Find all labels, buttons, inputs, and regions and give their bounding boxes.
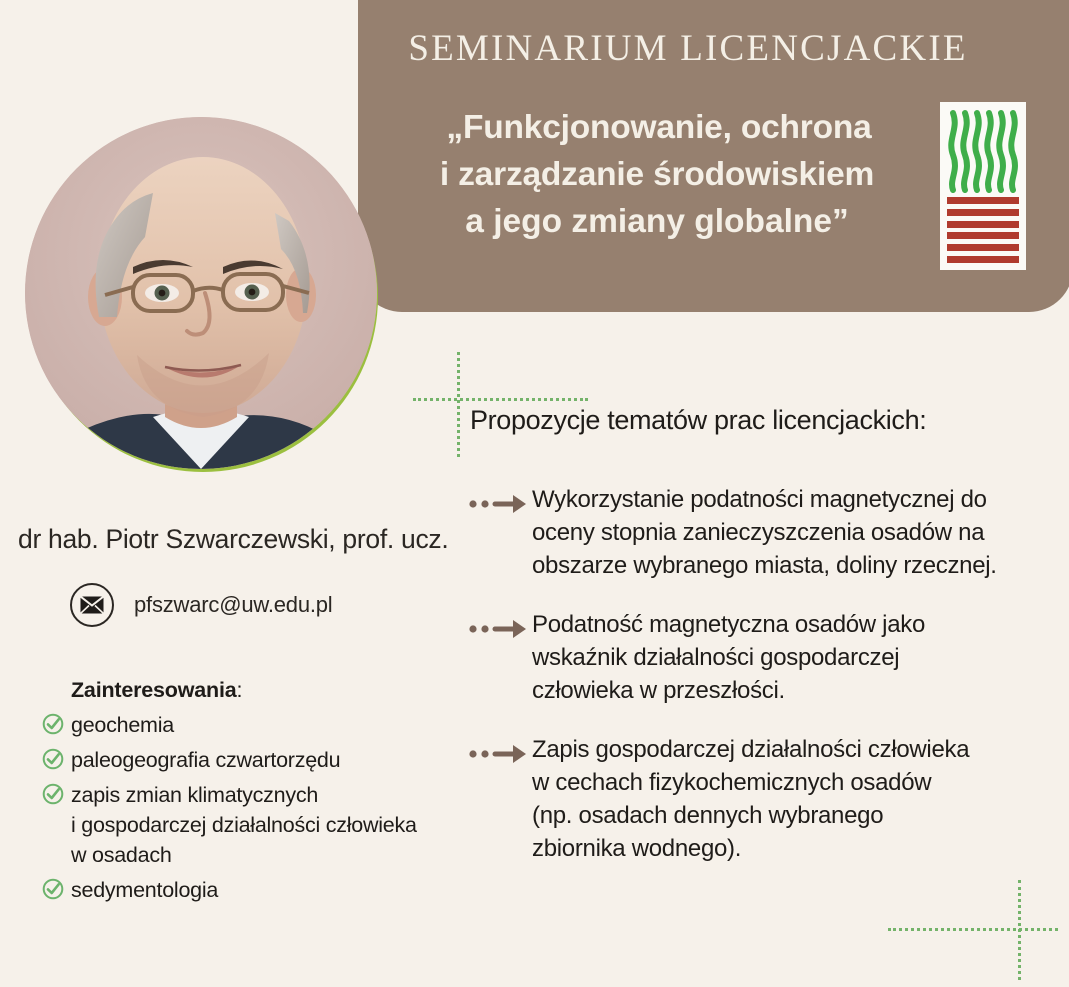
subtitle-line-3: a jego zmiany globalne”	[372, 198, 942, 245]
portrait-illustration	[25, 117, 377, 469]
cross-vertical-line	[457, 352, 460, 457]
list-item: paleogeografia czwartorzędu	[42, 745, 442, 775]
logo-waves-icon	[947, 109, 1019, 194]
logo-bar	[947, 232, 1019, 239]
topic-line-3: człowieka w przeszłości.	[532, 674, 925, 707]
logo-bar	[947, 221, 1019, 228]
dotted-arrow-icon	[468, 616, 532, 642]
logo-bar	[947, 197, 1019, 204]
interests-section: Zainteresowania: geochemia paleogeografi…	[42, 678, 442, 910]
topic-line-3: (np. osadach dennych wybranego	[532, 799, 969, 832]
list-item: zapis zmian klimatycznych i gospodarczej…	[42, 780, 442, 870]
list-item: sedymentologia	[42, 875, 442, 905]
subtitle-line-1: „Funkcjonowanie, ochrona	[372, 104, 942, 151]
topic-line-2: w cechach fizykochemicznych osadów	[532, 766, 969, 799]
dotted-arrow-icon	[468, 741, 532, 767]
interests-heading: Zainteresowania:	[71, 678, 442, 703]
interests-heading-label: Zainteresowania	[71, 678, 236, 702]
topic-line-1: Wykorzystanie podatności magnetycznej do	[532, 483, 997, 516]
logo-bar	[947, 256, 1019, 263]
logo-bar	[947, 244, 1019, 251]
cross-horizontal-line	[413, 398, 588, 401]
envelope-glyph	[80, 596, 104, 614]
list-item: Zapis gospodarczej działalności człowiek…	[468, 733, 1028, 865]
interest-line-1: sedymentologia	[71, 878, 218, 902]
interests-heading-colon: :	[236, 678, 242, 702]
topics-list: Wykorzystanie podatności magnetycznej do…	[468, 483, 1028, 891]
check-circle-icon	[42, 878, 64, 900]
interest-line-2: i gospodarczej działalności człowieka	[71, 810, 417, 840]
topics-heading: Propozycje tematów prac licencjackich:	[470, 405, 926, 436]
dotted-cross-bottom	[888, 880, 1058, 980]
topic-line-1: Zapis gospodarczej działalności człowiek…	[532, 733, 969, 766]
check-circle-icon	[42, 783, 64, 805]
interest-line-1: zapis zmian klimatycznych	[71, 783, 318, 807]
topic-line-4: zbiornika wodnego).	[532, 832, 969, 865]
portrait-photo	[25, 117, 377, 469]
interest-text: zapis zmian klimatycznych i gospodarczej…	[71, 780, 417, 870]
interest-line-1: geochemia	[71, 713, 174, 737]
poster-canvas: SEMINARIUM LICENCJACKIE „Funkcjonowanie,…	[0, 0, 1069, 987]
logo-bar	[947, 209, 1019, 216]
cross-horizontal-line	[888, 928, 1058, 931]
email-address[interactable]: pfszwarc@uw.edu.pl	[134, 592, 333, 618]
topic-line-2: oceny stopnia zanieczyszczenia osadów na	[532, 516, 997, 549]
email-row[interactable]: pfszwarc@uw.edu.pl	[70, 583, 333, 627]
check-circle-icon	[42, 713, 64, 735]
uw-geography-logo	[940, 102, 1026, 270]
list-item: Podatność magnetyczna osadów jako wskaźn…	[468, 608, 1028, 707]
interest-line-3: w osadach	[71, 840, 417, 870]
seminar-subtitle: „Funkcjonowanie, ochrona i zarządzanie ś…	[372, 104, 942, 245]
interest-text: geochemia	[71, 710, 174, 740]
interest-line-1: paleogeografia czwartorzędu	[71, 748, 340, 772]
list-item: geochemia	[42, 710, 442, 740]
topic-text: Zapis gospodarczej działalności człowiek…	[532, 733, 969, 865]
topic-text: Podatność magnetyczna osadów jako wskaźn…	[532, 608, 925, 707]
check-circle-icon	[42, 748, 64, 770]
page-title: SEMINARIUM LICENCJACKIE	[358, 27, 1018, 70]
person-name: dr hab. Piotr Szwarczewski, prof. ucz.	[18, 524, 448, 555]
list-item: Wykorzystanie podatności magnetycznej do…	[468, 483, 1028, 582]
topic-line-2: wskaźnik działalności gospodarczej	[532, 641, 925, 674]
topic-line-1: Podatność magnetyczna osadów jako	[532, 608, 925, 641]
envelope-icon	[70, 583, 114, 627]
dotted-arrow-icon	[468, 491, 532, 517]
logo-bars-icon	[947, 197, 1019, 263]
topic-line-3: obszarze wybranego miasta, doliny rzeczn…	[532, 549, 997, 582]
interest-text: paleogeografia czwartorzędu	[71, 745, 340, 775]
subtitle-line-2: i zarządzanie środowiskiem	[372, 151, 942, 198]
cross-vertical-line	[1018, 880, 1021, 980]
interest-text: sedymentologia	[71, 875, 218, 905]
topic-text: Wykorzystanie podatności magnetycznej do…	[532, 483, 997, 582]
